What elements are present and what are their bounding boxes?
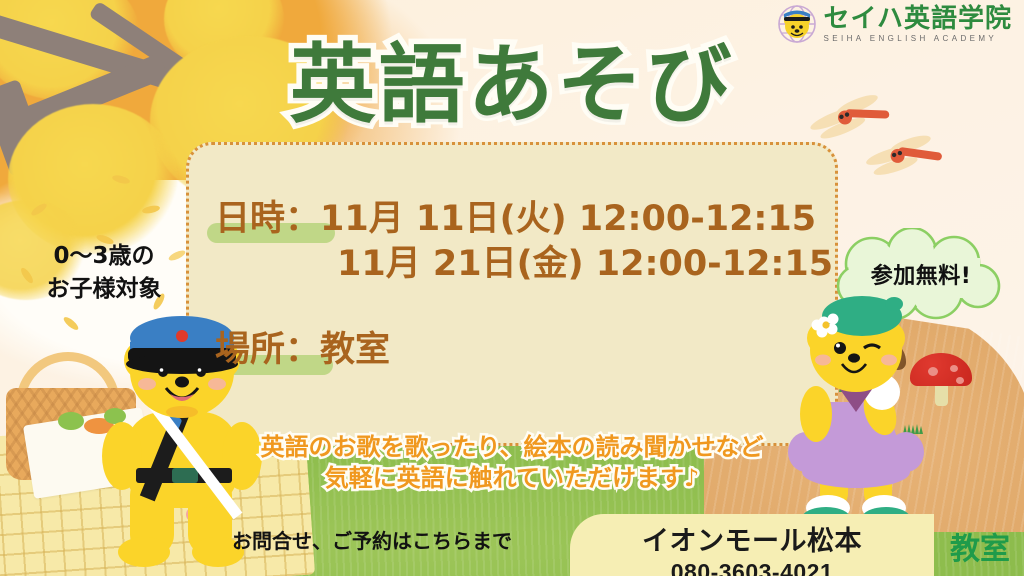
page-title: 英語あそび bbox=[0, 14, 1024, 139]
poster-canvas: セイハ英語学院 SEIHA ENGLISH ACADEMY 英語あそび 日時：1… bbox=[0, 0, 1024, 576]
description-line-1: 英語のお歌を歌ったり、絵本の読み聞かせなど bbox=[0, 432, 1024, 463]
age-line-1: 0〜3歳の bbox=[18, 240, 190, 273]
datetime-row: 日時：11月 11日(火) 12:00-12:15 11月 21日(金) 12:… bbox=[215, 197, 833, 287]
info-panel: 日時：11月 11日(火) 12:00-12:15 11月 21日(金) 12:… bbox=[186, 142, 838, 446]
datetime-value-2: 11月 21日(金) 12:00-12:15 bbox=[337, 244, 833, 284]
datetime-label: 日時： bbox=[215, 199, 320, 239]
branch-contact-pill[interactable]: イオンモール松本 080-3603-4021 bbox=[570, 514, 934, 576]
place-label: 場所： bbox=[215, 330, 320, 370]
age-line-2: お子様対象 bbox=[18, 273, 190, 306]
datetime-line-2: 11月 21日(金) 12:00-12:15 bbox=[215, 242, 833, 287]
room-tag: 教室 bbox=[950, 524, 1010, 568]
place-row: 場所：教室 bbox=[215, 321, 390, 372]
datetime-value-1: 11月 11日(火) 12:00-12:15 bbox=[320, 199, 816, 239]
age-target-badge: 0〜3歳の お子様対象 bbox=[18, 240, 190, 307]
description-text: 英語のお歌を歌ったり、絵本の読み聞かせなど 気軽に英語に触れていただけます♪ bbox=[0, 432, 1024, 493]
branch-name: イオンモール松本 bbox=[570, 519, 934, 558]
branch-phone[interactable]: 080-3603-4021 bbox=[570, 559, 934, 576]
contact-label: お問合せ、ご予約はこちらまで bbox=[232, 525, 512, 554]
place-value: 教室 bbox=[320, 330, 390, 370]
bear-mascot-girl-icon bbox=[776, 294, 936, 534]
description-line-2: 気軽に英語に触れていただけます♪ bbox=[0, 463, 1024, 494]
datetime-line-1: 日時：11月 11日(火) 12:00-12:15 bbox=[215, 197, 833, 242]
